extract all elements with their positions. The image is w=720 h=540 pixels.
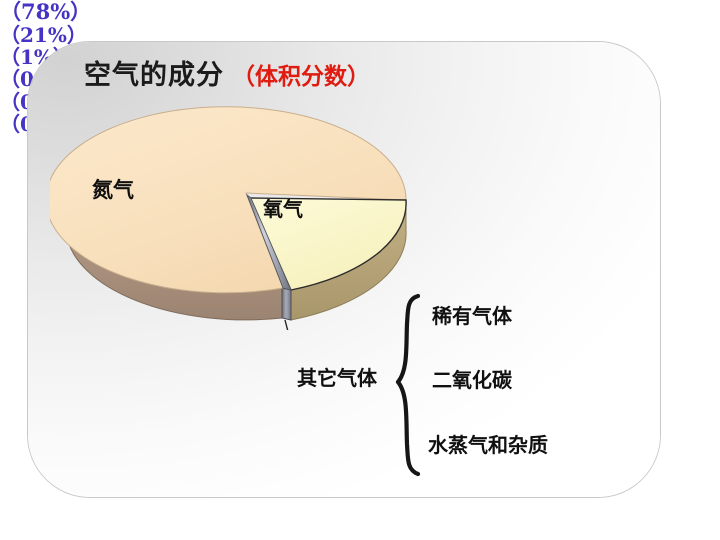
pie-chart: [50, 100, 430, 330]
title-subtitle-text: （体积分数）: [232, 63, 370, 90]
breakdown-label-carbon-dioxide: 二氧化碳: [432, 369, 512, 391]
brace-icon: [392, 292, 426, 478]
page-title: 空气的成分（体积分数）: [84, 62, 370, 89]
slice-value-nitrogen: （78%）: [0, 0, 720, 24]
pie-slice-side-other: [282, 288, 291, 320]
breakdown-label-noble-gases: 稀有气体: [432, 305, 512, 327]
title-main-text: 空气的成分: [84, 60, 224, 91]
slice-label-other-gases: 其它气体: [297, 367, 377, 389]
slice-label-oxygen: 氧气: [263, 198, 303, 220]
leader-line-other-gases: [285, 320, 300, 330]
slide-canvas: 空气的成分（体积分数）: [0, 0, 720, 540]
breakdown-label-water-vapor: 水蒸气和杂质: [428, 434, 548, 456]
slice-label-nitrogen: 氮气: [92, 178, 134, 202]
